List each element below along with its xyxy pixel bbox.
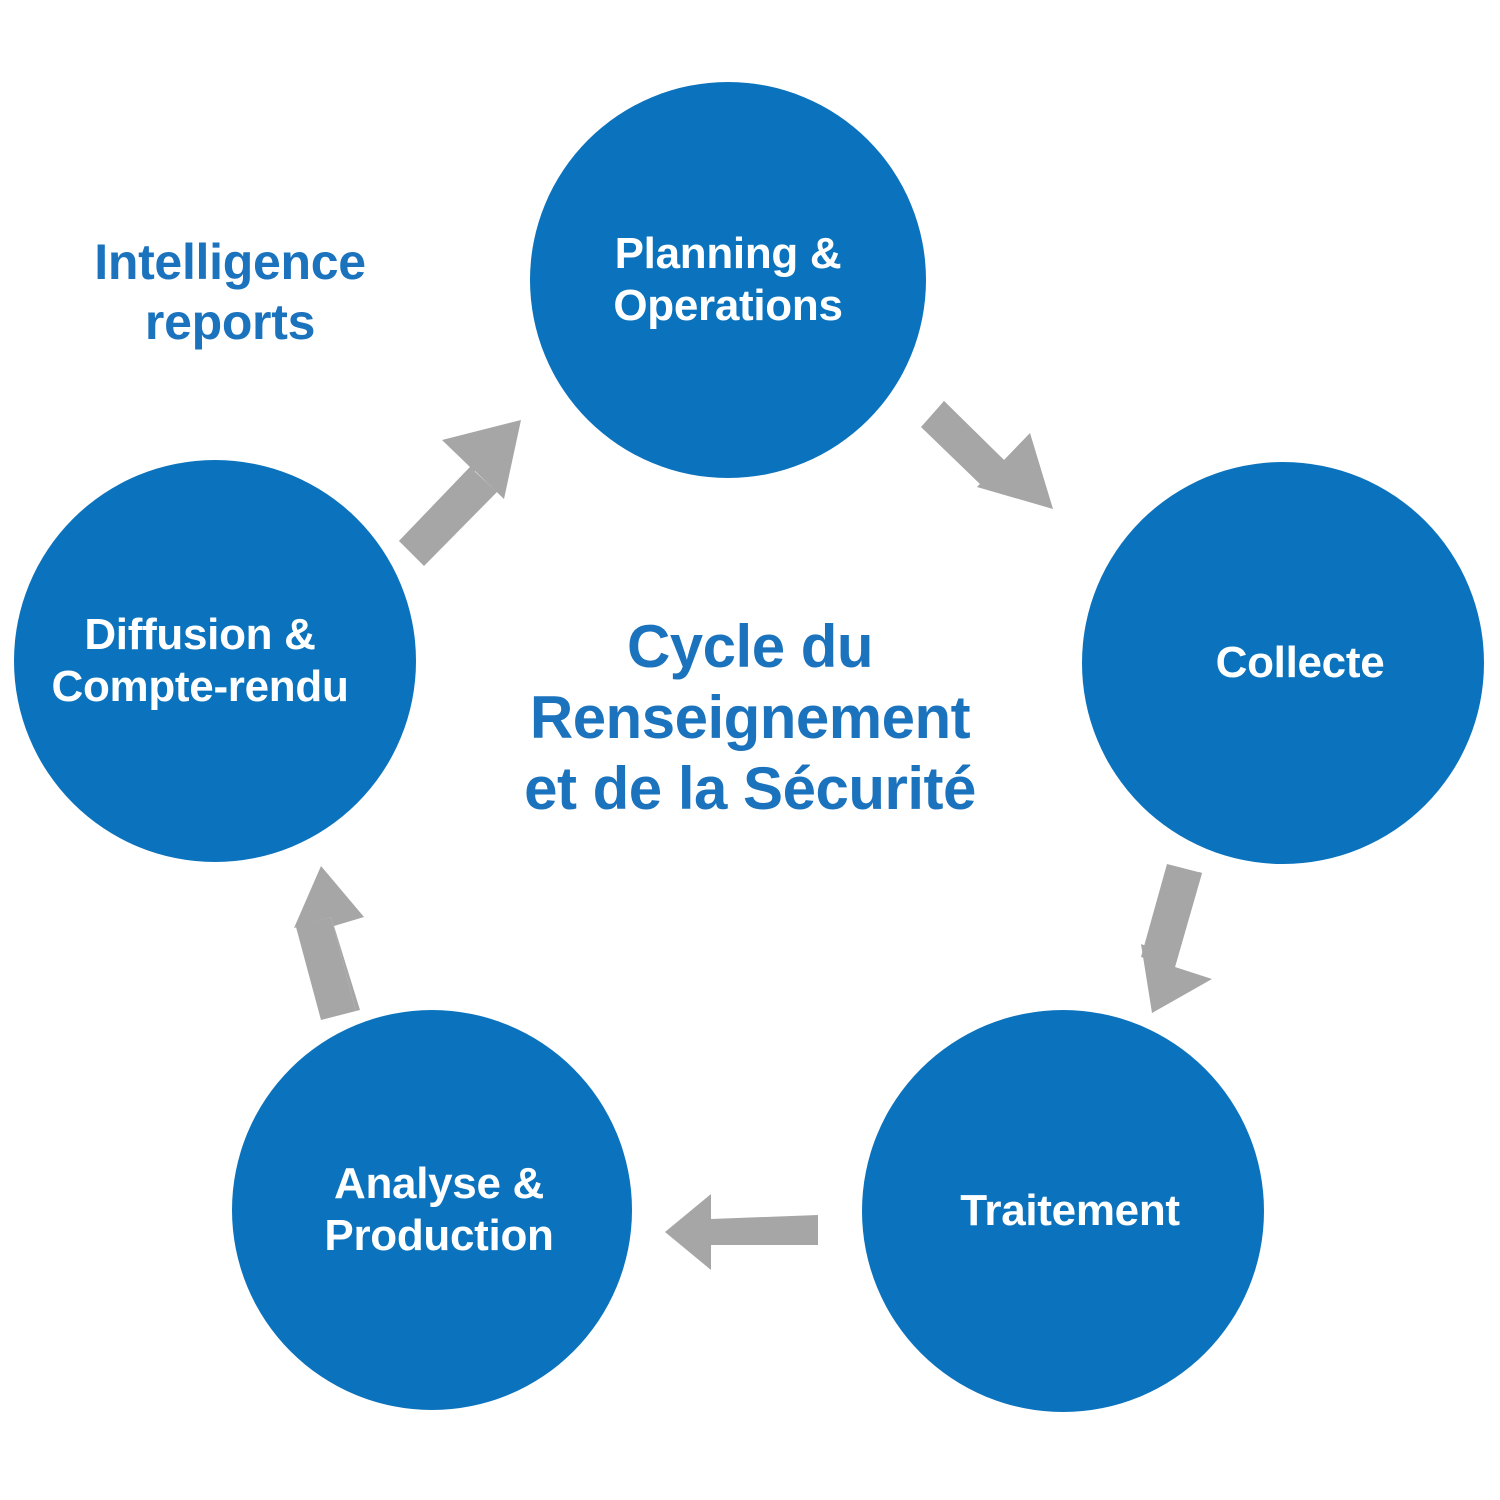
node-planning-operations-label: Planning & Operations [613,228,842,332]
diagram-center-title: Cycle du Renseignement et de la Sécurité [380,612,1120,824]
arrow-collecte-to-traitement [1141,864,1212,1013]
arrow-planning-to-collecte [921,401,1053,509]
node-diffusion-compte-rendu-label: Diffusion & Compte-rendu [51,609,364,713]
node-traitement[interactable]: Traitement [862,1010,1264,1412]
node-planning-operations[interactable]: Planning & Operations [530,82,926,478]
node-analyse-production[interactable]: Analyse & Production [232,1010,632,1410]
arrow-diffusion-to-planning [399,420,521,566]
node-collecte-label: Collecte [1182,637,1385,689]
intelligence-cycle-diagram: Planning & Operations Collecte Traitemen… [0,0,1500,1500]
arrow-traitement-to-analyse [665,1194,818,1270]
node-analyse-production-label: Analyse & Production [310,1158,553,1262]
node-diffusion-compte-rendu[interactable]: Diffusion & Compte-rendu [14,460,416,862]
arrow-analyse-to-diffusion [294,866,364,1020]
node-collecte[interactable]: Collecte [1082,462,1484,864]
node-traitement-label: Traitement [946,1185,1180,1237]
intelligence-reports-annotation: Intelligence reports [20,232,440,352]
